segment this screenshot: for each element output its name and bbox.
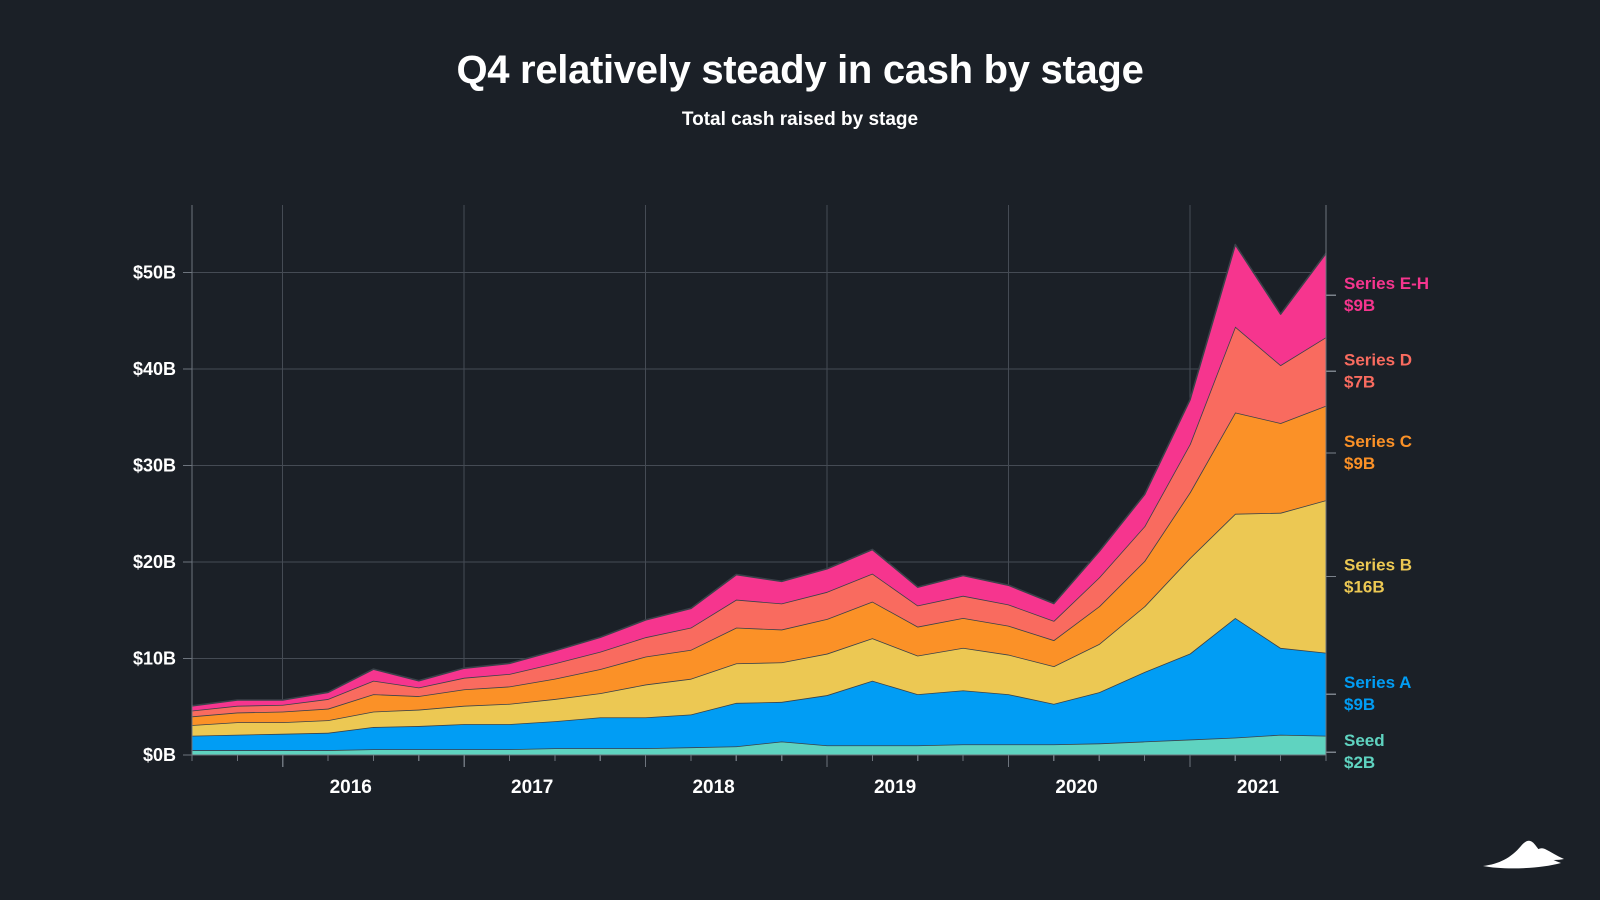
legend-value-series-e-h[interactable]: $9B bbox=[1344, 296, 1375, 315]
xtick-label: 2017 bbox=[511, 777, 553, 798]
ytick-label: $40B bbox=[133, 359, 176, 379]
mountain-wave-logo bbox=[1469, 830, 1565, 872]
legend-layer: Seed$2BSeries A$9BSeries B$16BSeries C$9… bbox=[1326, 274, 1429, 772]
xtick-label: 2021 bbox=[1237, 777, 1280, 798]
legend-value-series-b[interactable]: $16B bbox=[1344, 577, 1385, 596]
chart-canvas: Q4 relatively steady in cash by stage To… bbox=[0, 0, 1600, 900]
xtick-label: 2018 bbox=[692, 777, 734, 798]
area-layer bbox=[192, 245, 1326, 755]
legend-value-seed[interactable]: $2B bbox=[1344, 753, 1375, 772]
legend-label-series-e-h[interactable]: Series E-H bbox=[1344, 274, 1429, 293]
stacked-area-chart: $0B$10B$20B$30B$40B$50B20162017201820192… bbox=[0, 0, 1600, 900]
ytick-label: $10B bbox=[133, 649, 176, 669]
legend-label-series-b[interactable]: Series B bbox=[1344, 555, 1412, 574]
ytick-label: $20B bbox=[133, 552, 176, 572]
ytick-label: $0B bbox=[143, 745, 176, 765]
legend-label-series-d[interactable]: Series D bbox=[1344, 350, 1412, 369]
ytick-label: $50B bbox=[133, 263, 176, 283]
legend-value-series-a[interactable]: $9B bbox=[1344, 695, 1375, 714]
xtick-label: 2020 bbox=[1055, 777, 1097, 798]
legend-label-series-c[interactable]: Series C bbox=[1344, 432, 1412, 451]
chart-svg: $0B$10B$20B$30B$40B$50B20162017201820192… bbox=[0, 0, 1600, 900]
legend-label-series-a[interactable]: Series A bbox=[1344, 673, 1411, 692]
xtick-label: 2019 bbox=[874, 777, 916, 798]
legend-label-seed[interactable]: Seed bbox=[1344, 731, 1385, 750]
legend-value-series-d[interactable]: $7B bbox=[1344, 372, 1375, 391]
xtick-label: 2016 bbox=[330, 777, 372, 798]
ytick-label: $30B bbox=[133, 456, 176, 476]
legend-value-series-c[interactable]: $9B bbox=[1344, 454, 1375, 473]
